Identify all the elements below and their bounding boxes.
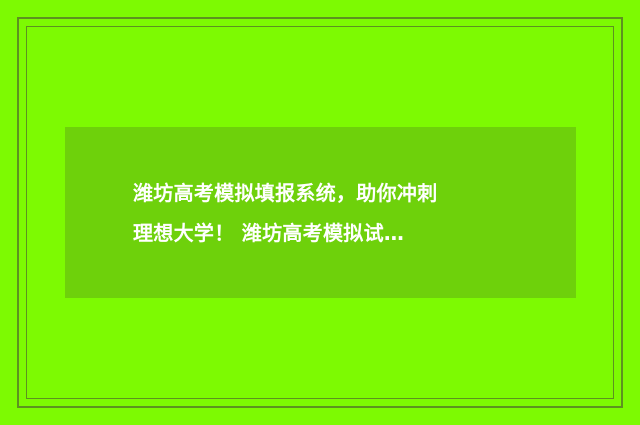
headline-line-2: 理想大学！ 潍坊高考模拟试…	[133, 213, 552, 253]
headline-line-1: 潍坊高考模拟填报系统，助你冲刺	[133, 173, 552, 213]
headline-panel: 潍坊高考模拟填报系统，助你冲刺 理想大学！ 潍坊高考模拟试…	[65, 127, 576, 298]
banner-canvas: 潍坊高考模拟填报系统，助你冲刺 理想大学！ 潍坊高考模拟试…	[0, 0, 640, 425]
